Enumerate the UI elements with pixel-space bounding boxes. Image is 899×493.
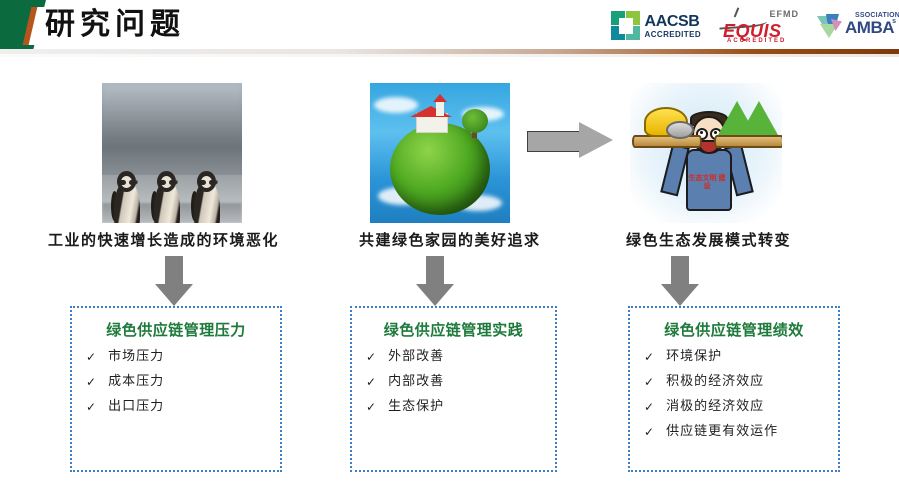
equis-status: ACCREDITED bbox=[727, 38, 786, 44]
aacsb-mark-icon bbox=[611, 11, 641, 41]
list-item: ✓市场压力 bbox=[86, 349, 280, 365]
green-globe-photo bbox=[370, 83, 510, 223]
list-item-label: 消极的经济效应 bbox=[666, 399, 764, 415]
amba-gem-icon bbox=[817, 13, 843, 39]
header-divider-shadow bbox=[0, 54, 899, 57]
list-item-label: 积极的经济效应 bbox=[666, 374, 764, 390]
list-item: ✓供应链更有效运作 bbox=[644, 424, 838, 440]
list-item: ✓内部改善 bbox=[366, 374, 555, 390]
equis-logo: EFMD EQUIS ACCREDITED bbox=[717, 6, 801, 46]
caption-green-development: 绿色生态发展模式转变 bbox=[626, 229, 791, 250]
check-icon: ✓ bbox=[366, 349, 377, 365]
box-item-list: ✓市场压力 ✓成本压力 ✓出口压力 bbox=[72, 349, 280, 415]
list-item: ✓生态保护 bbox=[366, 399, 555, 415]
list-item-label: 成本压力 bbox=[108, 374, 164, 390]
check-icon: ✓ bbox=[86, 374, 97, 390]
aacsb-wordmark: AACSB ACCREDITED bbox=[645, 14, 701, 39]
amba-logo: SSOCIATION AMBA s bbox=[817, 6, 893, 46]
slide-canvas: 研究问题 AACSB ACCREDITED EFMD EQUIS ACCREDI… bbox=[0, 0, 899, 493]
penguins-photo bbox=[102, 83, 242, 223]
list-item: ✓积极的经济效应 bbox=[644, 374, 838, 390]
check-icon: ✓ bbox=[366, 399, 377, 415]
box-item-list: ✓环境保护 ✓积极的经济效应 ✓消极的经济效应 ✓供应链更有效运作 bbox=[630, 349, 838, 440]
list-item: ✓消极的经济效应 bbox=[644, 399, 838, 415]
list-item-label: 市场压力 bbox=[108, 349, 164, 365]
arrow-down-icon-3 bbox=[661, 256, 699, 306]
check-icon: ✓ bbox=[644, 399, 655, 415]
box-green-supply-chain-practice: 绿色供应链管理实践 ✓外部改善 ✓内部改善 ✓生态保护 bbox=[350, 306, 557, 472]
aacsb-logo: AACSB ACCREDITED bbox=[611, 6, 701, 46]
slide-header: 研究问题 AACSB ACCREDITED EFMD EQUIS ACCREDI… bbox=[0, 0, 899, 56]
list-item-label: 内部改善 bbox=[388, 374, 444, 390]
check-icon: ✓ bbox=[644, 374, 655, 390]
list-item-label: 环境保护 bbox=[666, 349, 722, 365]
check-icon: ✓ bbox=[366, 374, 377, 390]
amba-wordmark: SSOCIATION AMBA s bbox=[845, 11, 893, 41]
caption-environment-degradation: 工业的快速增长造成的环境恶化 bbox=[48, 229, 279, 250]
box-green-supply-chain-performance: 绿色供应链管理绩效 ✓环境保护 ✓积极的经济效应 ✓消极的经济效应 ✓供应链更有… bbox=[628, 306, 840, 472]
arrow-right-icon bbox=[527, 122, 615, 158]
aacsb-status: ACCREDITED bbox=[645, 31, 701, 39]
arrow-down-icon-1 bbox=[155, 256, 193, 306]
box-title: 绿色供应链管理实践 bbox=[352, 319, 555, 340]
shirt-slogan: 生态文明 建设 bbox=[688, 175, 726, 191]
list-item-label: 供应链更有效运作 bbox=[666, 424, 778, 440]
box-green-supply-chain-pressure: 绿色供应链管理压力 ✓市场压力 ✓成本压力 ✓出口压力 bbox=[70, 306, 282, 472]
list-item-label: 外部改善 bbox=[388, 349, 444, 365]
check-icon: ✓ bbox=[86, 349, 97, 365]
check-icon: ✓ bbox=[644, 349, 655, 365]
balance-man-illustration: 生态文明 建设 bbox=[630, 83, 782, 223]
list-item-label: 生态保护 bbox=[388, 399, 444, 415]
arrow-down-icon-2 bbox=[416, 256, 454, 306]
check-icon: ✓ bbox=[644, 424, 655, 440]
box-item-list: ✓外部改善 ✓内部改善 ✓生态保护 bbox=[352, 349, 555, 415]
list-item: ✓外部改善 bbox=[366, 349, 555, 365]
check-icon: ✓ bbox=[86, 399, 97, 415]
list-item-label: 出口压力 bbox=[108, 399, 164, 415]
efmd-name: EFMD bbox=[770, 9, 800, 19]
caption-green-homeland: 共建绿色家园的美好追求 bbox=[359, 229, 541, 250]
list-item: ✓出口压力 bbox=[86, 399, 280, 415]
aacsb-name: AACSB bbox=[645, 14, 701, 30]
page-title: 研究问题 bbox=[45, 3, 185, 47]
accreditation-logos: AACSB ACCREDITED EFMD EQUIS ACCREDITED S… bbox=[611, 5, 893, 47]
amba-superscript: s bbox=[892, 18, 896, 25]
box-title: 绿色供应链管理绩效 bbox=[630, 319, 838, 340]
list-item: ✓环境保护 bbox=[644, 349, 838, 365]
list-item: ✓成本压力 bbox=[86, 374, 280, 390]
amba-name: AMBA bbox=[845, 18, 894, 38]
box-title: 绿色供应链管理压力 bbox=[72, 319, 280, 340]
